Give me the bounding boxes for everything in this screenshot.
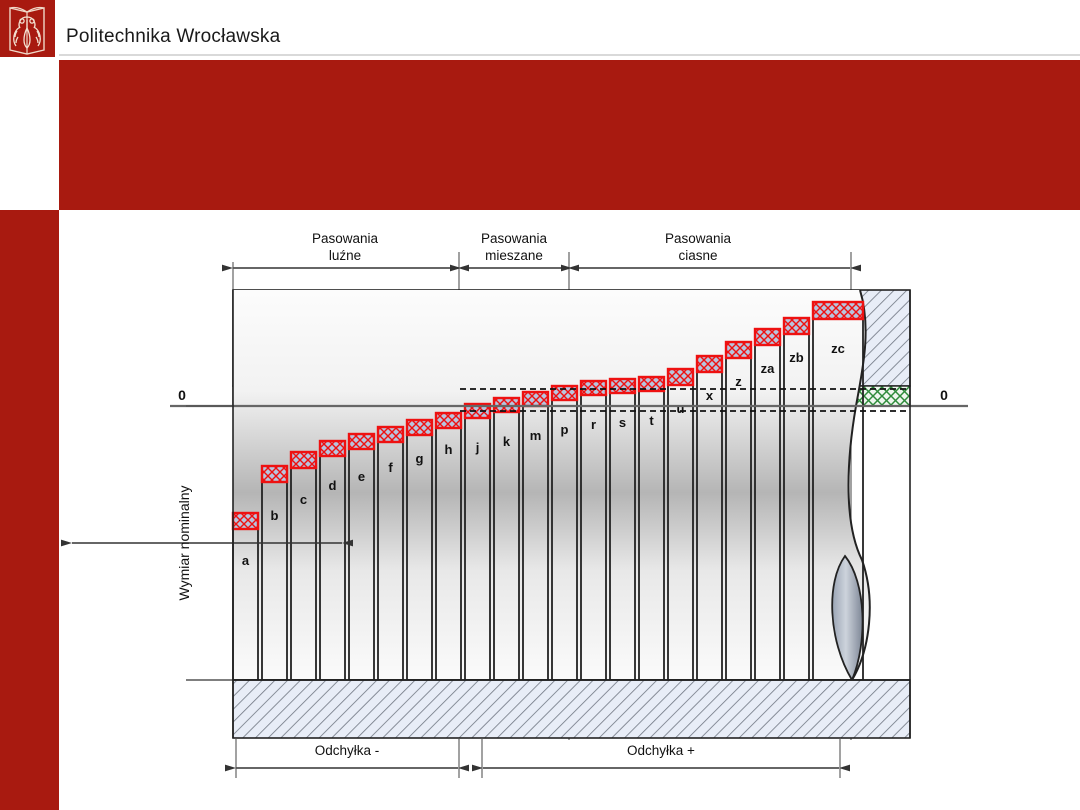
tolerance-band-zc[interactable]	[813, 302, 863, 319]
tolerance-band-d[interactable]	[320, 441, 345, 456]
column-label-x: x	[706, 388, 714, 403]
diagram-svg: Pasowania luźne Pasowania mieszane Pasow…	[0, 0, 1080, 810]
tolerance-band-f[interactable]	[378, 427, 403, 442]
column-label-s: s	[619, 415, 626, 430]
tolerance-band-m[interactable]	[523, 392, 548, 406]
column-label-h: h	[445, 442, 453, 457]
tolerance-band-g[interactable]	[407, 420, 432, 435]
column-label-zc: zc	[831, 341, 845, 356]
hole-region-lower	[233, 680, 910, 738]
column-label-g: g	[416, 451, 424, 466]
tolerance-band-u[interactable]	[668, 369, 693, 385]
tolerance-band-b[interactable]	[262, 466, 287, 482]
group-mixed-line1: Pasowania	[481, 231, 548, 246]
tolerance-band-c[interactable]	[291, 452, 316, 468]
group-loose-line2: luźne	[329, 248, 361, 263]
deviation-negative-label: Odchyłka -	[315, 743, 380, 758]
column-label-k: k	[503, 434, 511, 449]
column-label-z: z	[735, 374, 742, 389]
tolerance-band-x[interactable]	[697, 356, 722, 372]
tolerance-band-e[interactable]	[349, 434, 374, 449]
tolerance-band-zb[interactable]	[784, 318, 809, 334]
column-label-j: j	[475, 440, 480, 455]
column-label-r: r	[591, 417, 596, 432]
column-label-b: b	[271, 508, 279, 523]
zero-label-right: 0	[940, 387, 948, 403]
tolerance-band-h[interactable]	[436, 413, 461, 428]
group-mixed-line2: mieszane	[485, 248, 543, 263]
nominal-dimension-label: Wymiar nominalny	[176, 485, 192, 600]
tolerance-zone-diagram: Pasowania luźne Pasowania mieszane Pasow…	[0, 0, 1080, 810]
group-tight-line2: ciasne	[678, 248, 717, 263]
column-label-c: c	[300, 492, 307, 507]
column-label-d: d	[329, 478, 337, 493]
deviation-positive-group: Odchyłka +	[482, 738, 840, 778]
tolerance-band-z[interactable]	[726, 342, 751, 358]
column-label-e: e	[358, 469, 365, 484]
zero-label-left: 0	[178, 387, 186, 403]
column-label-f: f	[388, 460, 393, 475]
deviation-negative-group: Odchyłka -	[236, 738, 459, 778]
tolerance-band-s[interactable]	[610, 379, 635, 393]
deviation-positive-label: Odchyłka +	[627, 743, 695, 758]
column-label-t: t	[649, 413, 654, 428]
column-label-u: u	[677, 401, 685, 416]
column-label-p: p	[561, 422, 569, 437]
group-loose-line1: Pasowania	[312, 231, 379, 246]
slide-root: Politechnika Wrocławska	[0, 0, 1080, 810]
tolerance-band-za[interactable]	[755, 329, 780, 345]
group-tight-line1: Pasowania	[665, 231, 732, 246]
tolerance-band-a[interactable]	[233, 513, 258, 529]
tolerance-band-r[interactable]	[581, 381, 606, 395]
column-label-zb: zb	[789, 350, 804, 365]
column-label-m: m	[530, 428, 542, 443]
column-label-a: a	[242, 553, 250, 568]
column-label-za: za	[761, 361, 776, 376]
